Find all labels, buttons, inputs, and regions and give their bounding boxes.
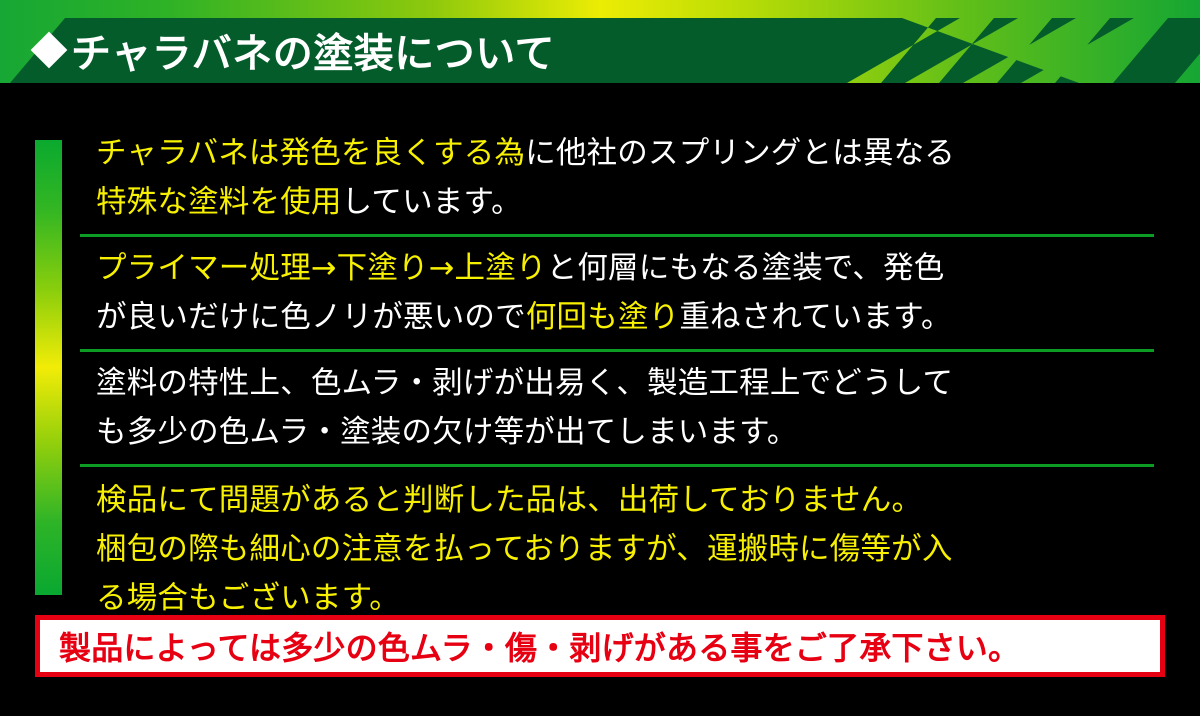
paragraph-paint-variance: 塗料の特性上、色ムラ・剥げが出易く、製造工程上でどうして も多少の色ムラ・塗装の… bbox=[96, 359, 1176, 461]
paragraph-paint-purpose: チャラバネは発色を良くする為に他社のスプリングとは異なる 特殊な塗料を使用してい… bbox=[96, 129, 1176, 231]
divider-3 bbox=[80, 464, 1154, 467]
warning-text: 製品によっては多少の色ムラ・傷・剥げがある事をご了承下さい。 bbox=[40, 623, 1020, 669]
paragraph-1-highlight-2: 特殊な塗料を使用 bbox=[96, 185, 342, 220]
paragraph-4-line-2: 梱包の際も細心の注意を払っておりますが、運搬時に傷等が入 bbox=[96, 532, 953, 567]
paragraph-4-line-3: る場合もございます。 bbox=[96, 581, 400, 616]
paragraph-1-highlight-1: チャラバネは発色を良くする為 bbox=[96, 136, 525, 171]
divider-1 bbox=[80, 234, 1154, 237]
header-banner: チャラバネの塗装について bbox=[0, 0, 1200, 83]
page-title: チャラバネの塗装について bbox=[71, 21, 555, 79]
paragraph-1-text-1: に他社のスプリングとは異なる bbox=[525, 136, 955, 171]
paragraph-2-text-2: が良いだけに色ノリが悪いので bbox=[96, 300, 526, 335]
notice-graphic: チャラバネの塗装について チャラバネは発色を良くする為に他社のスプリングとは異な… bbox=[0, 0, 1200, 716]
paragraph-2-highlight-1: プライマー処理→下塗り→上塗り bbox=[96, 251, 547, 286]
paragraph-3-line-1: 塗料の特性上、色ムラ・剥げが出易く、製造工程上でどうして bbox=[96, 366, 953, 401]
paragraph-list: チャラバネは発色を良くする為に他社のスプリングとは異なる 特殊な塗料を使用してい… bbox=[96, 129, 1176, 627]
paragraph-paint-process: プライマー処理→下塗り→上塗りと何層にもなる塗装で、発色 が良いだけに色ノリが悪… bbox=[96, 244, 1176, 346]
paragraph-inspection-shipping: 検品にて問題があると判断した品は、出荷しておりません。 梱包の際も細心の注意を払… bbox=[96, 476, 1176, 627]
paragraph-3-line-2: も多少の色ムラ・塗装の欠け等が出てしまいます。 bbox=[96, 415, 798, 450]
divider-2 bbox=[80, 349, 1154, 352]
content-area: チャラバネは発色を良くする為に他社のスプリングとは異なる 特殊な塗料を使用してい… bbox=[0, 83, 1200, 716]
vertical-accent-bar bbox=[35, 140, 62, 595]
header-title-group: チャラバネの塗装について bbox=[36, 21, 555, 79]
paragraph-2-text-3: 重ねされています。 bbox=[679, 300, 951, 335]
paragraph-2-text-1: と何層にもなる塗装で、発色 bbox=[547, 251, 945, 286]
diamond-icon bbox=[31, 32, 68, 69]
paragraph-1-text-2: しています。 bbox=[342, 185, 522, 220]
warning-box: 製品によっては多少の色ムラ・傷・剥げがある事をご了承下さい。 bbox=[35, 615, 1165, 677]
paragraph-4-line-1: 検品にて問題があると判断した品は、出荷しておりません。 bbox=[96, 483, 922, 518]
paragraph-2-highlight-2: 何回も塗り bbox=[526, 300, 680, 335]
